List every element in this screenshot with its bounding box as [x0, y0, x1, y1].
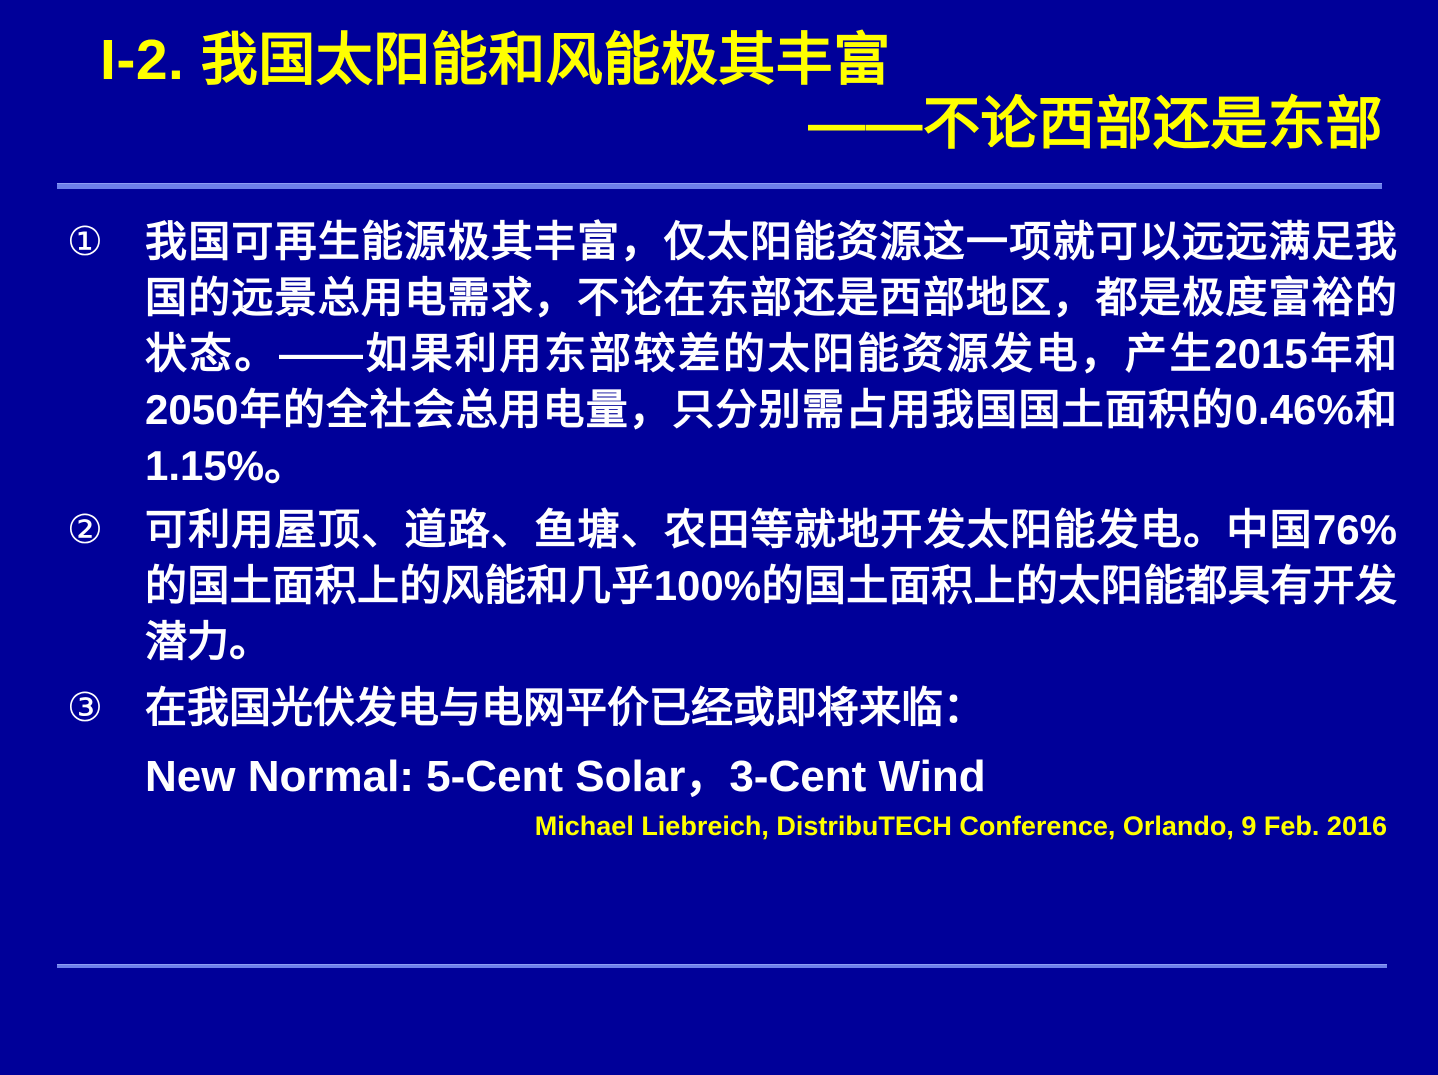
circled-number-3-marker: ③ [57, 680, 145, 736]
circled-number-1-marker: ① [57, 214, 145, 270]
slide-canvas: I-2. 我国太阳能和风能极其丰富 ——不论西部还是东部 ① 我国可再生能源极其… [0, 0, 1438, 1075]
source-citation: Michael Liebreich, DistribuTECH Conferen… [57, 808, 1397, 844]
list-item: ③ 在我国光伏发电与电网平价已经或即将来临： [57, 680, 1397, 736]
title-line-primary: I-2. 我国太阳能和风能极其丰富 [0, 30, 1438, 92]
english-headline: New Normal: 5-Cent Solar，3-Cent Wind [57, 750, 1397, 804]
list-item: ① 我国可再生能源极其丰富，仅太阳能资源这一项就可以远远满足我国的远景总用电需求… [57, 214, 1397, 494]
circled-number-2-marker: ② [57, 502, 145, 558]
bullet-1-text: 我国可再生能源极其丰富，仅太阳能资源这一项就可以远远满足我国的远景总用电需求，不… [145, 214, 1397, 494]
footer-divider-rule [57, 964, 1387, 968]
list-item: ② 可利用屋顶、道路、鱼塘、农田等就地开发太阳能发电。中国76%的国土面积上的风… [57, 502, 1397, 670]
bullet-2-text: 可利用屋顶、道路、鱼塘、农田等就地开发太阳能发电。中国76%的国土面积上的风能和… [145, 502, 1397, 670]
title-divider-rule [57, 183, 1382, 189]
bullet-3-text: 在我国光伏发电与电网平价已经或即将来临： [145, 680, 1397, 736]
slide-body: ① 我国可再生能源极其丰富，仅太阳能资源这一项就可以远远满足我国的远景总用电需求… [57, 214, 1397, 844]
slide-title: I-2. 我国太阳能和风能极其丰富 ——不论西部还是东部 [0, 30, 1438, 155]
title-line-subtitle: ——不论西部还是东部 [0, 94, 1438, 156]
